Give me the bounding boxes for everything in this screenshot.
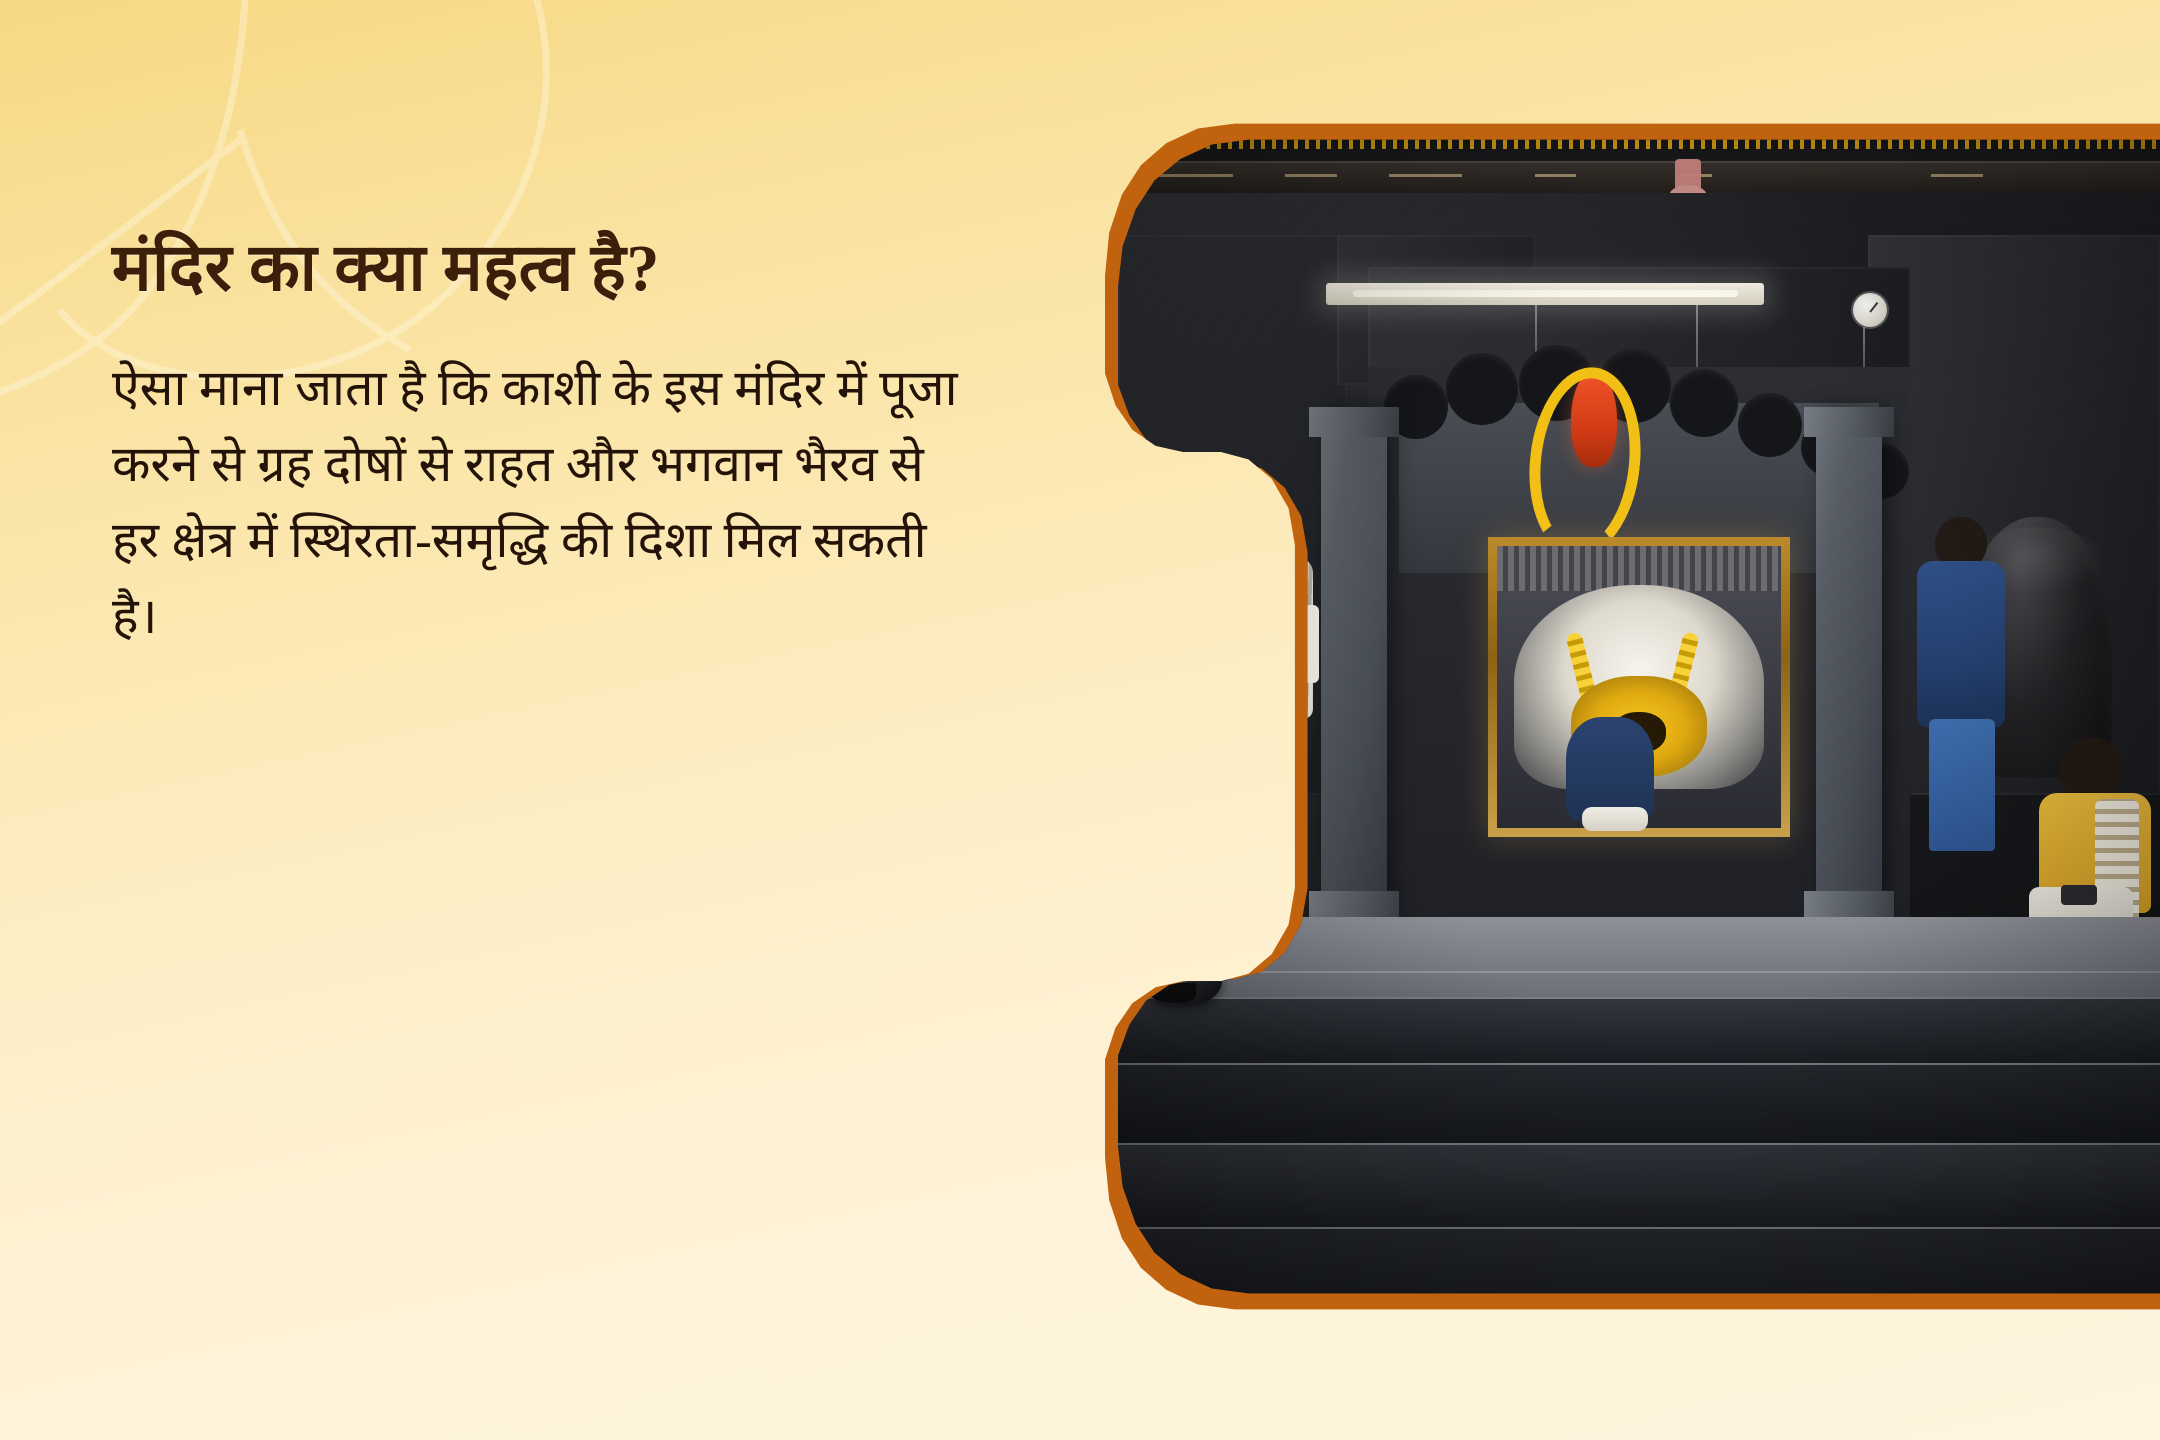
black-stone-steps-icon xyxy=(1118,997,2160,1067)
black-stone-pillars-icon xyxy=(1816,407,1882,937)
temple-photo xyxy=(1118,117,2160,1316)
page-title: मंदिर का क्या महत्व है? xyxy=(112,230,992,308)
body-paragraph: ऐसा माना जाता है कि काशी के इस मंदिर में… xyxy=(112,350,972,654)
seated-priest-with-phone xyxy=(2025,737,2160,947)
devotee-striped-shirt xyxy=(1207,509,1319,839)
temple-interior-scene xyxy=(1118,117,2160,1316)
wall-clock-icon xyxy=(1853,293,1887,327)
kneeling-devotee-icon xyxy=(1566,717,1654,821)
temple-photo-frame xyxy=(1105,104,2160,1329)
black-stone-steps-icon xyxy=(1118,1063,2160,1147)
text-column: मंदिर का क्या महत्व है? ऐसा माना जाता है… xyxy=(112,230,992,654)
scalloped-stone-arch-icon xyxy=(1738,393,1802,457)
scalloped-stone-arch-icon xyxy=(1446,353,1518,425)
ceiling-rail xyxy=(1118,161,2160,195)
marigold-garland-strand-icon xyxy=(1118,117,2160,139)
black-stone-steps-icon xyxy=(1118,1143,2160,1233)
black-stone-pillars-icon xyxy=(1321,407,1387,937)
tube-light-icon xyxy=(1326,283,1764,305)
scalloped-stone-arch-icon xyxy=(1670,369,1738,437)
motorcycle-helmet-icon xyxy=(1144,947,1222,1005)
devotee-blue-shirt xyxy=(1915,517,2011,857)
poster-canvas: मंदिर का क्या महत्व है? ऐसा माना जाता है… xyxy=(0,0,2160,1440)
kneeling-devotee-hands xyxy=(1582,807,1648,831)
black-stone-steps-icon xyxy=(1118,1227,2160,1316)
